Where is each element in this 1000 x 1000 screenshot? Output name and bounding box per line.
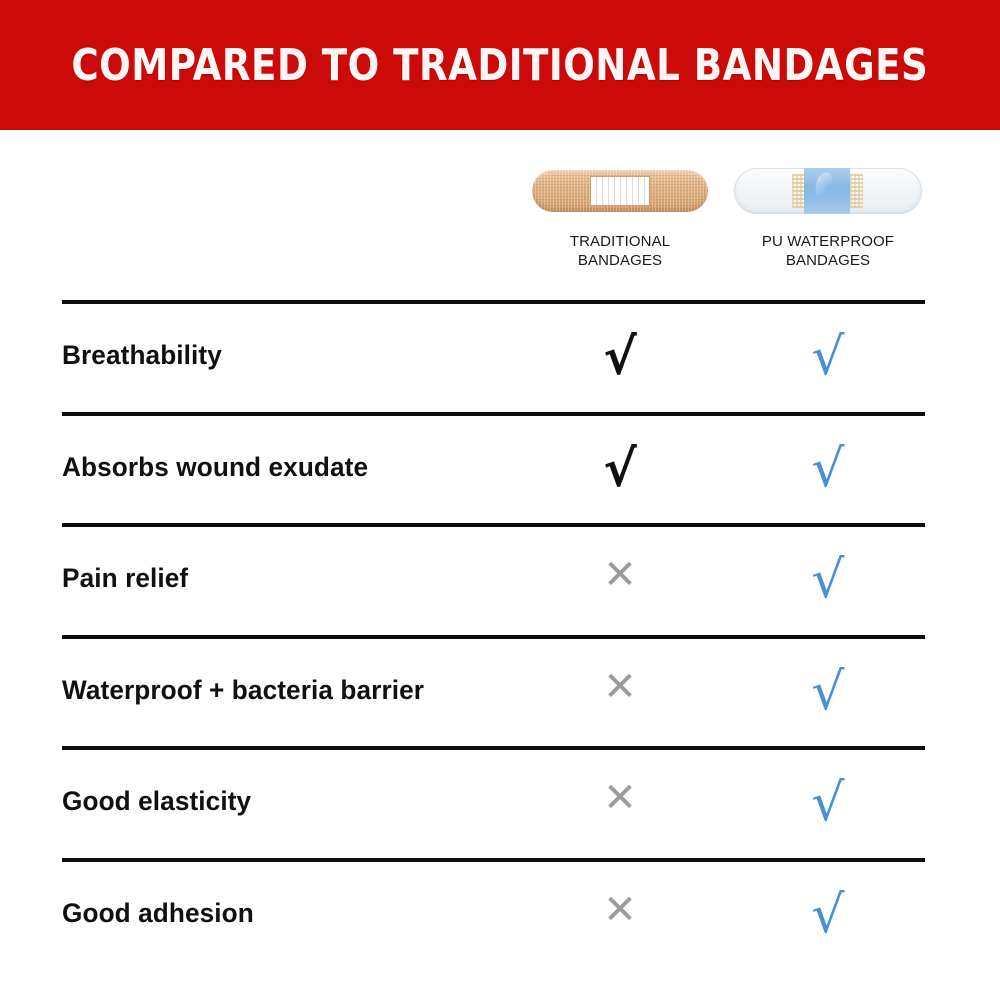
gauze-pad-icon — [590, 176, 650, 206]
row-label: Waterproof + bacteria barrier — [62, 675, 424, 706]
row-label: Good adhesion — [62, 898, 254, 929]
row-divider — [62, 635, 925, 639]
pu-waterproof-bandage-image — [724, 160, 932, 222]
column-label-pu-line1: PU WATERPROOF — [724, 232, 932, 251]
page-title: COMPARED TO TRADITIONAL BANDAGES — [72, 40, 929, 91]
cell-traditional-row-4: ✕ — [560, 778, 680, 818]
traditional-bandage-icon — [532, 170, 708, 212]
cell-pu_waterproof-row-0: √ — [768, 331, 888, 383]
column-label-traditional: TRADITIONAL BANDAGES — [516, 232, 724, 270]
check-icon: √ — [811, 439, 844, 499]
blue-center-pad-icon — [804, 168, 850, 214]
row-divider — [62, 412, 925, 416]
row-label: Good elasticity — [62, 786, 251, 817]
check-icon: √ — [603, 440, 636, 498]
pu-waterproof-bandage-icon — [734, 168, 922, 214]
cell-pu_waterproof-row-5: √ — [768, 889, 888, 941]
cell-traditional-row-0: √ — [560, 332, 680, 382]
check-icon: √ — [603, 328, 636, 386]
check-icon: √ — [811, 773, 844, 833]
row-label: Absorbs wound exudate — [62, 452, 368, 483]
column-label-traditional-line1: TRADITIONAL — [516, 232, 724, 251]
row-divider — [62, 523, 925, 527]
row-divider — [62, 746, 925, 750]
check-icon: √ — [811, 327, 844, 387]
column-label-pu-line2: BANDAGES — [724, 251, 932, 270]
row-divider — [62, 300, 925, 304]
header-banner: COMPARED TO TRADITIONAL BANDAGES — [0, 0, 1000, 130]
cell-pu_waterproof-row-2: √ — [768, 554, 888, 606]
traditional-bandage-image — [516, 160, 724, 222]
column-label-traditional-line2: BANDAGES — [516, 251, 724, 270]
row-label: Breathability — [62, 340, 222, 371]
column-header-pu-waterproof: PU WATERPROOF BANDAGES — [724, 160, 932, 270]
cross-icon: ✕ — [603, 887, 637, 933]
cross-icon: ✕ — [603, 664, 637, 710]
row-divider — [62, 858, 925, 862]
cell-traditional-row-1: √ — [560, 444, 680, 494]
check-icon: √ — [811, 550, 844, 610]
cell-pu_waterproof-row-4: √ — [768, 777, 888, 829]
cell-traditional-row-5: ✕ — [560, 890, 680, 930]
cross-icon: ✕ — [603, 775, 637, 821]
cell-pu_waterproof-row-3: √ — [768, 666, 888, 718]
comparison-infographic: COMPARED TO TRADITIONAL BANDAGES TRADITI… — [0, 0, 1000, 1000]
cell-pu_waterproof-row-1: √ — [768, 443, 888, 495]
cell-traditional-row-3: ✕ — [560, 667, 680, 707]
perforation-strip-right-icon — [850, 174, 863, 208]
column-label-pu-waterproof: PU WATERPROOF BANDAGES — [724, 232, 932, 270]
column-header-traditional: TRADITIONAL BANDAGES — [516, 160, 724, 270]
row-label: Pain relief — [62, 563, 188, 594]
cell-traditional-row-2: ✕ — [560, 555, 680, 595]
cross-icon: ✕ — [603, 552, 637, 598]
check-icon: √ — [811, 662, 844, 722]
check-icon: √ — [811, 885, 844, 945]
